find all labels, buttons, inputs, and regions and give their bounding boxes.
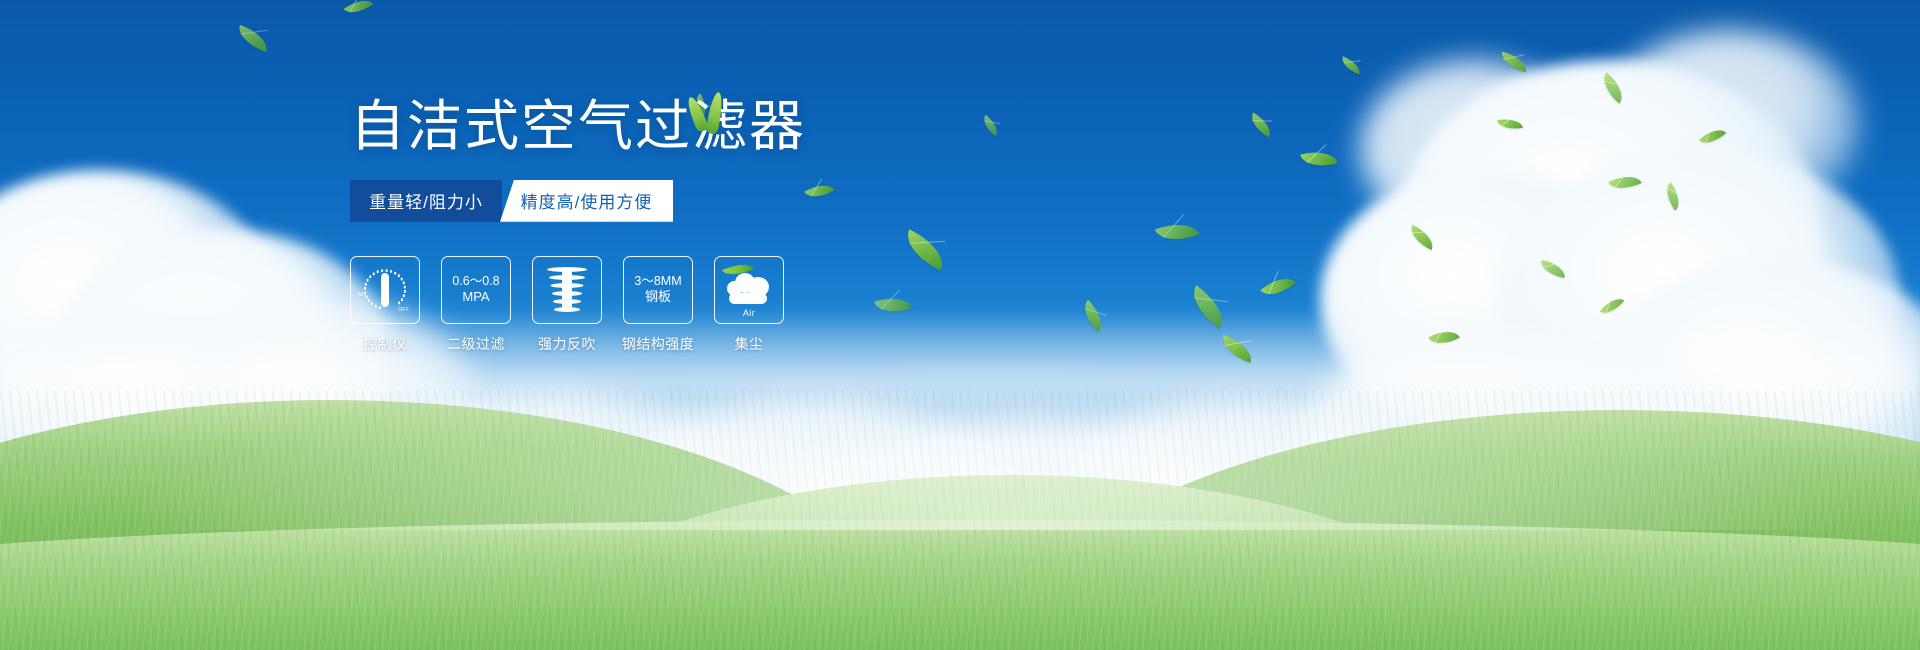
tag-group: 重量轻/阻力小 精度高/使用方便	[350, 180, 675, 222]
feature-box-filter: 0.6〜0.8 MPA	[441, 256, 511, 324]
cloud-base	[729, 293, 767, 304]
blow-disc	[554, 307, 580, 312]
control-dial-icon: NO OFF	[359, 266, 411, 314]
feature-label-filter: 二级过滤	[447, 334, 505, 354]
tag-precision-ease: 精度高/使用方便	[500, 180, 673, 222]
feature-box-dust: Air	[714, 256, 784, 324]
feature-label-dust: 集尘	[735, 334, 764, 354]
blow-core-segment	[562, 286, 572, 291]
feature-item-control: NO OFF 控制仪	[350, 256, 420, 354]
feature-icon-row: NO OFF 控制仪 0.6〜0.8 MPA 二级过滤 强力反吹	[350, 256, 1070, 354]
flying-leaf	[1155, 216, 1199, 248]
blow-core-segment	[562, 294, 572, 299]
tag-weight-resistance: 重量轻/阻力小	[350, 180, 502, 222]
leaf-sprout-blade-right	[705, 91, 724, 134]
feature-item-filter: 0.6〜0.8 MPA 二级过滤	[441, 256, 511, 354]
feature-box-control: NO OFF	[350, 256, 420, 324]
flying-leaf	[1660, 182, 1686, 211]
cloud-right-6	[1360, 60, 1590, 240]
dial-on-label: NO	[358, 292, 366, 298]
feature-label-steel: 钢结构强度	[622, 334, 695, 354]
pressure-unit-text: MPA	[462, 289, 489, 305]
feature-box-steel: 3〜8MM 钢板	[623, 256, 693, 324]
grass-field	[0, 360, 1920, 650]
blow-core-segment	[562, 302, 572, 307]
flying-leaf	[1699, 123, 1726, 149]
pressure-range-text: 0.6〜0.8	[452, 274, 499, 290]
feature-item-steel: 3〜8MM 钢板 钢结构强度	[623, 256, 693, 354]
flying-leaf	[1608, 169, 1642, 195]
flying-leaf	[1246, 112, 1276, 137]
banner-content: 自洁式空气过滤器 重量轻/阻力小 精度高/使用方便 NO OFF 控制仪	[350, 95, 1070, 354]
feature-item-dust: Air 集尘	[714, 256, 784, 354]
flying-leaf	[1596, 72, 1629, 104]
flying-leaf	[344, 0, 374, 20]
flying-leaf	[1406, 225, 1438, 250]
flying-leaf	[1339, 56, 1364, 74]
flying-leaf	[1539, 260, 1567, 278]
dial-off-label: OFF	[398, 307, 409, 313]
grass-glow	[0, 330, 1920, 530]
product-hero-banner: 自洁式空气过滤器 重量轻/阻力小 精度高/使用方便 NO OFF 控制仪	[0, 0, 1920, 650]
flying-leaf	[234, 25, 272, 53]
back-blow-icon	[545, 265, 589, 315]
feature-box-blowback	[532, 256, 602, 324]
feature-item-blowback: 强力反吹	[532, 256, 602, 354]
feature-label-control: 控制仪	[363, 334, 407, 354]
blow-core-segment	[562, 278, 572, 283]
leaf-sprout-icon	[685, 90, 745, 138]
air-text-label: Air	[725, 308, 773, 318]
flying-leaf	[1260, 270, 1295, 304]
feature-label-blowback: 强力反吹	[538, 334, 596, 354]
flying-leaf	[1497, 116, 1523, 132]
blow-core-segment	[562, 270, 572, 275]
steel-plate-text: 钢板	[645, 289, 671, 305]
cloud-right-7	[1600, 30, 1860, 220]
air-cloud-icon: Air	[725, 267, 773, 313]
steel-thickness-text: 3〜8MM	[634, 274, 681, 290]
dial-knob	[381, 273, 389, 307]
flying-leaf	[1300, 146, 1338, 172]
flying-leaf	[1499, 52, 1530, 73]
